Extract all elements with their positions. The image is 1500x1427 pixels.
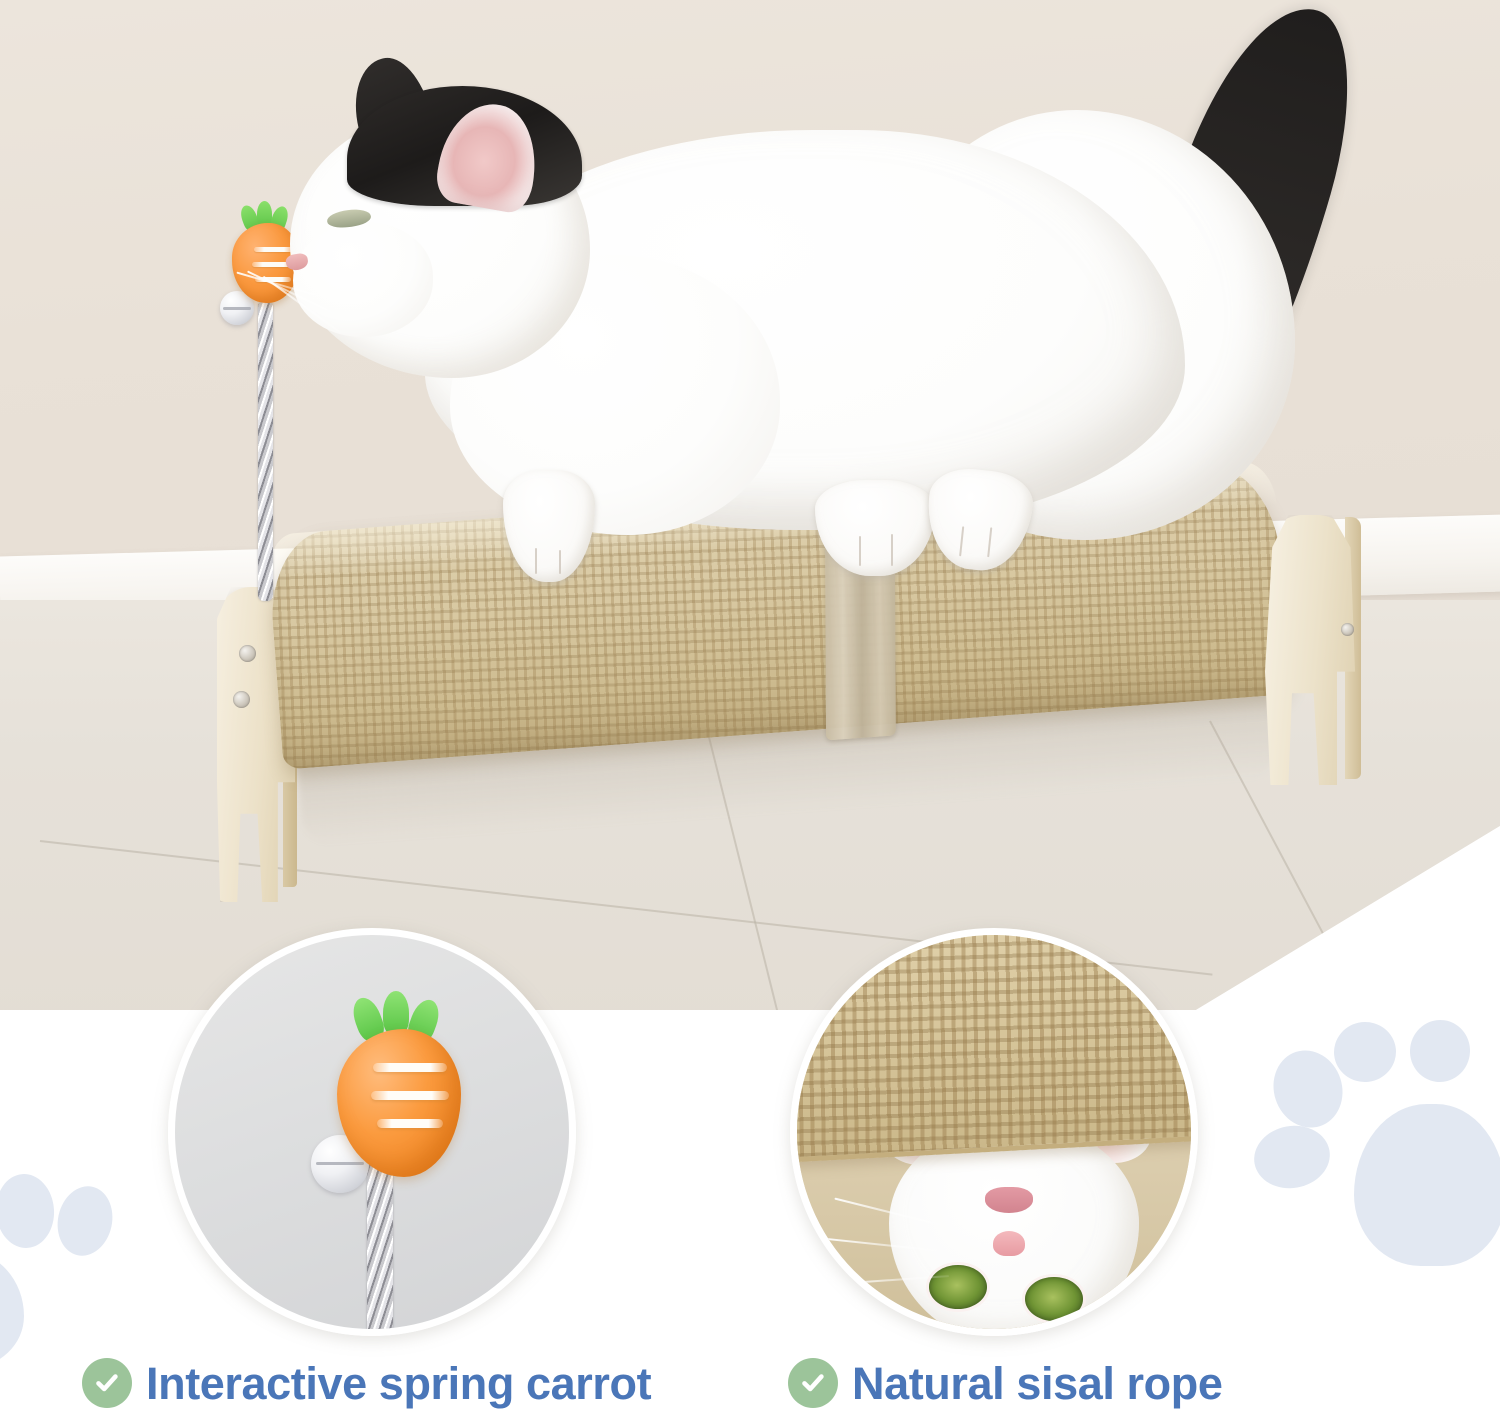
hero-photo: [0, 0, 1500, 1010]
feature-caption-label: Interactive spring carrot: [146, 1361, 651, 1406]
spring-carrot-toy-detail: [293, 997, 493, 1336]
feature-caption-carrot: Interactive spring carrot: [82, 1358, 651, 1408]
cat-hind-paw: [815, 480, 935, 576]
cat-hind-paw: [922, 465, 1036, 575]
kitten-eye-left: [929, 1265, 987, 1309]
feature-photo-sisal[interactable]: [790, 928, 1198, 1336]
feature-photo-carrot[interactable]: [168, 928, 576, 1336]
screw-icon: [1341, 623, 1354, 636]
paw-main-pad: [0, 1250, 24, 1368]
paw-toe-line: [891, 534, 893, 566]
screw-icon: [233, 691, 250, 708]
carrot-stitch: [373, 1063, 447, 1072]
kitten-mouth: [985, 1187, 1033, 1213]
check-circle-icon: [788, 1358, 838, 1408]
paw-toe-line: [859, 536, 861, 566]
paw-toe-line: [535, 548, 537, 574]
cat-muzzle: [293, 222, 433, 337]
sisal-rope-surface: [790, 928, 1198, 1163]
paw-print-decoration-left: [0, 1182, 132, 1382]
feature-caption-label: Natural sisal rope: [852, 1361, 1222, 1406]
paw-toe-pad: [1331, 1019, 1399, 1085]
carrot-body: [337, 1029, 461, 1177]
paw-toe-line: [559, 550, 561, 574]
paw-toe-line: [959, 526, 964, 556]
cat-front-paw: [503, 470, 595, 582]
kitten-eye-right: [1025, 1277, 1083, 1321]
product-image-stage: Interactive spring carrot Natural sisal …: [0, 0, 1500, 1427]
carrot-stitch: [377, 1119, 443, 1128]
feature-caption-sisal: Natural sisal rope: [788, 1358, 1222, 1408]
carrot-stitch: [371, 1091, 449, 1100]
paw-toe-line: [987, 527, 992, 557]
check-circle-icon: [82, 1358, 132, 1408]
paw-print-decoration-right: [1258, 1026, 1500, 1288]
paw-main-pad: [1354, 1104, 1500, 1266]
paw-toe-pad: [1249, 1120, 1335, 1194]
paw-toe-pad: [51, 1181, 118, 1261]
carrot-plush: [325, 997, 475, 1177]
kitten-nose: [993, 1231, 1025, 1256]
screw-icon: [239, 645, 256, 662]
paw-toe-pad: [1406, 1016, 1474, 1086]
paw-toe-pad: [0, 1172, 57, 1250]
cat: [255, 40, 1485, 620]
